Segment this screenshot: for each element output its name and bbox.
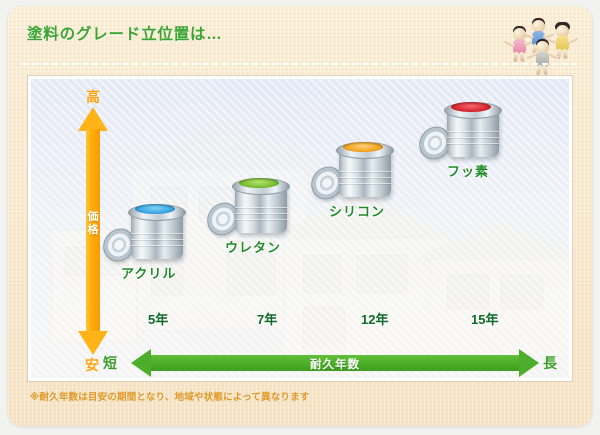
info-card: 塗料のグレード立位置は…	[8, 6, 592, 426]
can-body	[339, 147, 391, 197]
durability-axis-right-label: 長	[543, 353, 557, 373]
can-body	[131, 209, 183, 259]
card-header: 塗料のグレード立位置は…	[8, 6, 592, 62]
year-label-fluorine: 15年	[471, 309, 498, 328]
can-label-fluorine: フッ素	[447, 161, 489, 180]
can-rim	[444, 102, 502, 119]
can-paint-surface	[451, 102, 491, 112]
price-axis-top-label: 高	[78, 87, 108, 107]
can-rim	[128, 204, 186, 221]
durability-axis-left-label: 短	[103, 353, 117, 373]
can-rim	[232, 178, 290, 195]
year-label-urethane: 7年	[257, 309, 277, 328]
arrow-up-icon	[78, 107, 108, 131]
can-paint-surface	[239, 178, 279, 188]
can-label-silicone: シリコン	[329, 201, 385, 220]
footnote-text: ※耐久年数は目安の期間となり、地域や状態によって異なります	[30, 389, 310, 403]
durability-axis-arrow: 耐久年数	[131, 349, 539, 377]
can-label-acrylic: アクリル	[121, 263, 176, 282]
arrow-down-icon	[78, 331, 108, 355]
can-rim	[336, 142, 394, 159]
chart-panel: 高 価格 安 アクリル ウレタン	[28, 76, 572, 381]
price-axis-arrow: 価格	[78, 107, 108, 355]
page-title: 塗料のグレード立位置は…	[27, 22, 223, 44]
can-body	[447, 107, 499, 157]
year-label-silicone: 12年	[361, 309, 388, 328]
can-body	[235, 183, 287, 233]
header-divider	[22, 63, 578, 65]
can-label-urethane: ウレタン	[225, 237, 281, 256]
price-axis-label: 価格	[84, 211, 102, 237]
durability-axis-label: 耐久年数	[131, 356, 539, 372]
year-label-acrylic: 5年	[148, 309, 168, 328]
can-paint-surface	[343, 142, 383, 152]
can-paint-surface	[135, 204, 175, 214]
